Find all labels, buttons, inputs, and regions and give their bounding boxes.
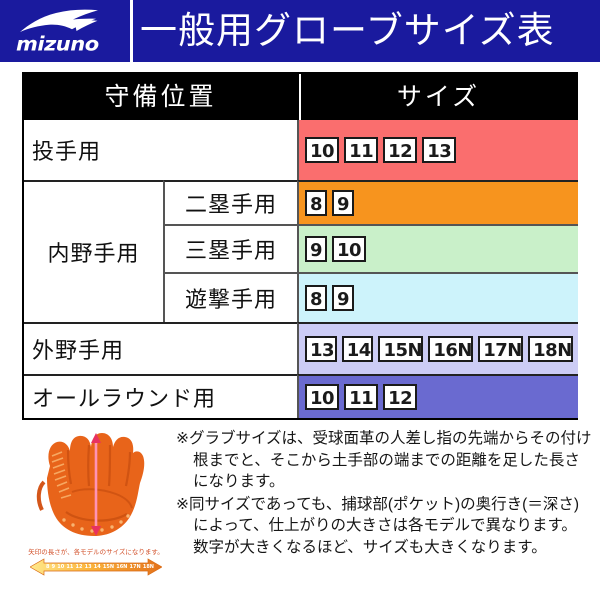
glove-illustration-block: 矢印の長さが、各モデルのサイズになります。 8 9 10 11 12 13 14… — [22, 424, 170, 596]
size-scale-ticks: 8 9 10 11 12 13 14 15N 16N 17N 18N — [46, 561, 154, 573]
size-badge: 10 — [305, 384, 339, 410]
header-cell-position: 守備位置 — [24, 74, 297, 120]
size-badge: 12 — [383, 384, 417, 410]
size-badge: 13 — [422, 137, 456, 163]
table-row: 投手用 10 11 12 13 — [24, 120, 576, 180]
table-row: 三塁手用 9 10 — [24, 224, 576, 272]
row-label-third-base: 三塁手用 — [163, 224, 297, 272]
row-sizes-allround: 10 11 12 — [297, 374, 578, 418]
size-badge: 8 — [305, 190, 327, 216]
header-banner: mizuno 一般用グローブサイズ表 — [0, 0, 600, 62]
scale-tick: 16N — [116, 564, 127, 570]
row-sizes-second-base: 8 9 — [297, 180, 578, 224]
scale-tick: 17N — [130, 564, 141, 570]
mizuno-runbird-icon — [18, 6, 118, 36]
mizuno-wordmark: mizuno — [16, 33, 120, 55]
size-badge: 8 — [305, 285, 327, 311]
row-label-outfielder: 外野手用 — [24, 322, 297, 374]
row-sizes-pitcher: 10 11 12 13 — [297, 120, 578, 180]
note-item: ※グラブサイズは、受球面革の人差し指の先端からその付け根までと、そこから土手部の… — [176, 428, 592, 493]
scale-tick: 15N — [103, 564, 114, 570]
row-sizes-shortstop: 8 9 — [297, 272, 578, 322]
size-badge: 10 — [305, 137, 339, 163]
table-row: 二塁手用 8 9 — [24, 180, 576, 224]
size-badge: 12 — [383, 137, 417, 163]
size-badge: 9 — [332, 285, 354, 311]
size-badge: 11 — [344, 384, 378, 410]
size-badge: 11 — [344, 137, 378, 163]
glove-size-chart-page: mizuno 一般用グローブサイズ表 守備位置 サイズ 投手用 10 11 12… — [0, 0, 600, 600]
orange-baseball-glove-image — [24, 426, 164, 544]
size-badge: 9 — [332, 190, 354, 216]
size-badge: 13 — [305, 336, 337, 362]
row-label-pitcher: 投手用 — [24, 120, 297, 180]
size-table: 守備位置 サイズ 投手用 10 11 12 13 内野手用 二塁手用 8 9 — [22, 72, 578, 420]
size-badge: 14 — [342, 336, 374, 362]
size-badge: 15N — [378, 336, 423, 362]
size-badge: 17N — [478, 336, 523, 362]
scale-tick: 12 — [76, 564, 83, 570]
scale-tick: 18N — [143, 564, 154, 570]
size-badge: 18N — [528, 336, 573, 362]
scale-tick: 9 — [52, 564, 55, 570]
size-badge: 10 — [332, 236, 366, 262]
table-row: 外野手用 13 14 15N 16N 17N 18N — [24, 322, 576, 374]
scale-tick: 10 — [57, 564, 64, 570]
glove-caption: 矢印の長さが、各モデルのサイズになります。 — [22, 546, 170, 556]
scale-tick: 8 — [46, 564, 49, 570]
notes-block: ※グラブサイズは、受球面革の人差し指の先端からその付け根までと、そこから土手部の… — [176, 428, 592, 559]
scale-tick: 14 — [94, 564, 101, 570]
note-item: ※同サイズであっても、捕球部(ポケット)の奥行き(＝深さ)によって、仕上がりの大… — [176, 494, 592, 559]
table-header-row: 守備位置 サイズ — [24, 74, 576, 120]
size-badge: 16N — [428, 336, 473, 362]
row-label-shortstop: 遊撃手用 — [163, 272, 297, 322]
row-label-allround: オールラウンド用 — [24, 374, 297, 418]
mizuno-logo: mizuno — [14, 4, 122, 58]
row-label-second-base: 二塁手用 — [163, 180, 297, 224]
row-sizes-outfielder: 13 14 15N 16N 17N 18N — [297, 322, 578, 374]
scale-tick: 13 — [85, 564, 92, 570]
page-title: 一般用グローブサイズ表 — [140, 2, 555, 60]
scale-tick: 11 — [66, 564, 73, 570]
banner-divider — [130, 0, 133, 62]
size-badge: 9 — [305, 236, 327, 262]
row-sizes-third-base: 9 10 — [297, 224, 578, 272]
header-cell-size: サイズ — [299, 74, 576, 120]
table-row: 遊撃手用 8 9 — [24, 272, 576, 322]
table-row: オールラウンド用 10 11 12 — [24, 374, 576, 418]
